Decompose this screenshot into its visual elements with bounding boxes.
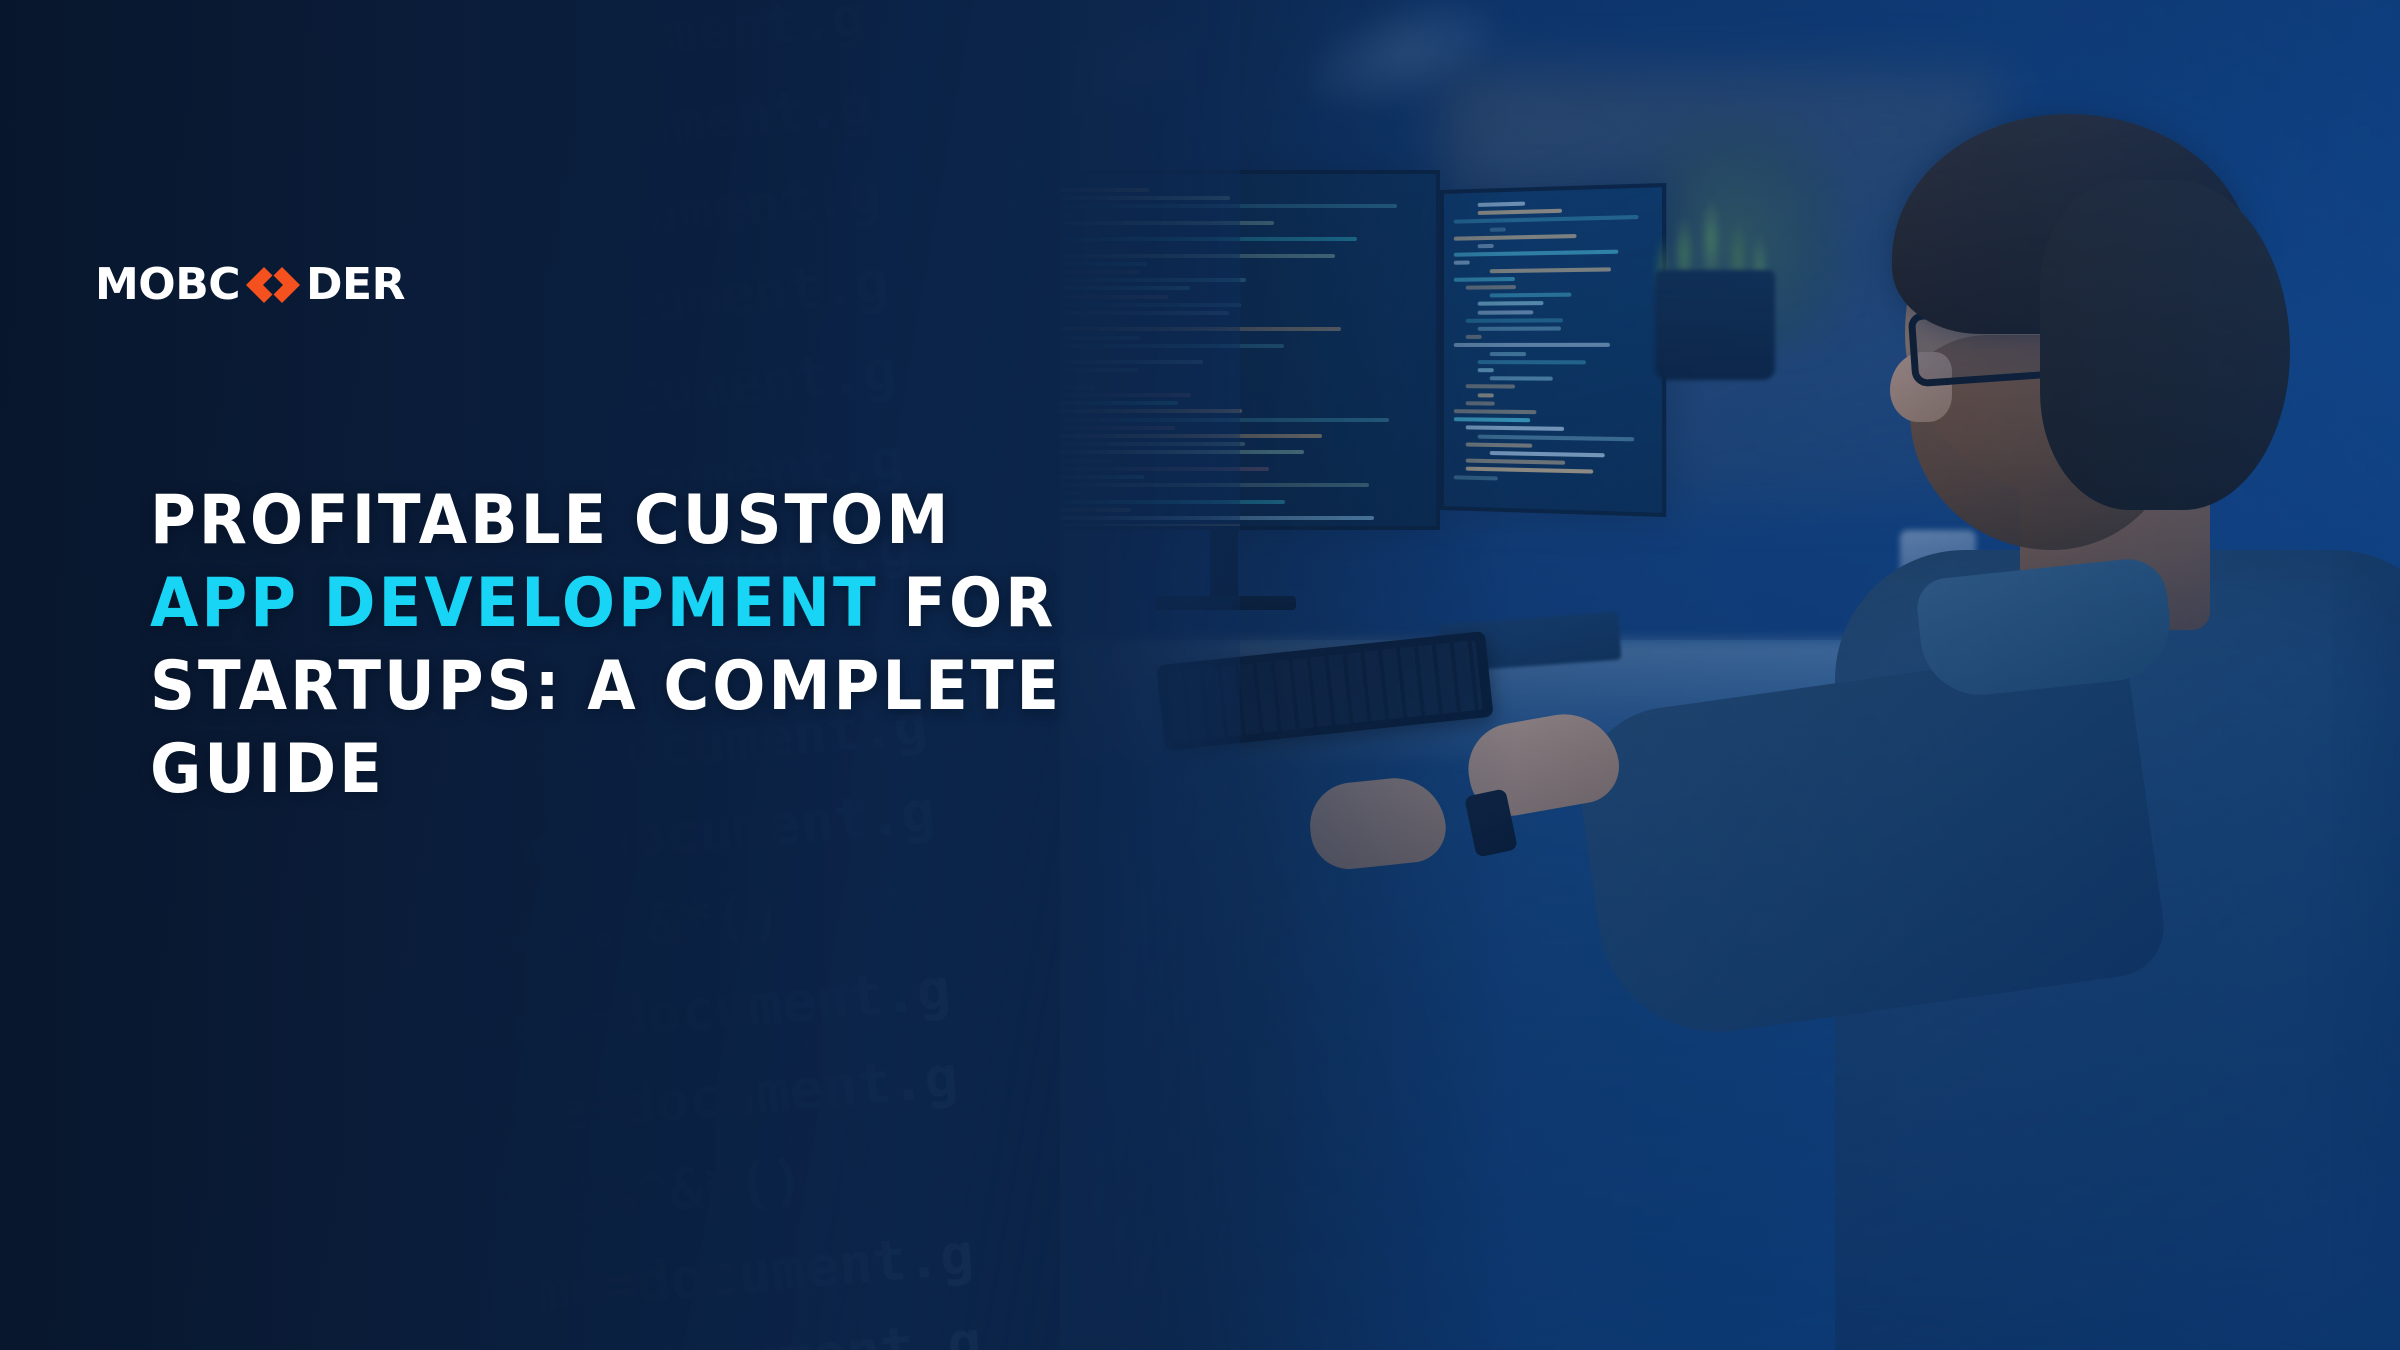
code-identifier: Password — [138, 902, 415, 1014]
headline-line-1: PROFITABLE CUSTOM — [150, 480, 1125, 563]
code-value: document.g — [517, 0, 861, 2]
screen-code-line — [1490, 293, 1572, 298]
screen-code-line — [1060, 344, 1284, 348]
code-line-number: 194 — [0, 661, 122, 764]
code-operator: = — [491, 2, 532, 93]
screen-code-line — [1466, 285, 1517, 290]
code-operator: = — [507, 179, 548, 270]
screen-code-line — [1466, 442, 1533, 447]
screen-code-line — [1060, 393, 1191, 397]
screen-code-line — [1060, 204, 1397, 208]
code-identifier: firstname — [219, 358, 530, 473]
screen-code-line — [1490, 451, 1605, 457]
screen-code-line — [1466, 401, 1495, 405]
code-identifier: firstname — [196, 93, 507, 208]
screen-code-line — [1060, 377, 1063, 381]
screen-code-line — [1060, 385, 1094, 389]
code-keyword: var — [130, 829, 239, 926]
code-operator: = — [483, 0, 524, 5]
screen-code-line — [1060, 475, 1144, 479]
code-line-number: 197 — [0, 1014, 153, 1117]
code-line-number: 192 — [0, 484, 107, 587]
screen-code-line — [1478, 209, 1562, 215]
code-operator: = — [499, 90, 540, 181]
screen-code-line — [1060, 254, 1335, 258]
code-identifier: firstname — [258, 800, 569, 915]
screen-code-line — [1454, 409, 1536, 414]
screen-code-line — [1060, 270, 1140, 274]
screen-code-line — [1466, 335, 1482, 339]
screen-code-line — [1478, 301, 1544, 306]
screen-code-line — [1060, 311, 1229, 315]
screen-code-line — [1454, 343, 1610, 347]
screen-code-line — [1466, 426, 1564, 432]
screen-code-line — [1478, 326, 1561, 330]
code-line-number: 189 — [0, 219, 84, 322]
blog-banner: 185varfirstname=document.g186varfirstnam… — [0, 0, 2400, 1350]
screen-code-line — [1466, 385, 1515, 389]
screen-code-line — [1060, 262, 1147, 266]
code-value: document.g — [556, 326, 900, 444]
code-identifier: firstname — [304, 1330, 615, 1350]
screen-code-line — [1060, 303, 1241, 307]
code-value: document.g — [532, 61, 876, 179]
code-value: document.g — [548, 238, 892, 356]
screen-code-line — [1478, 393, 1494, 397]
screen-code-line — [1060, 213, 1074, 217]
screen-code-line — [1454, 215, 1638, 224]
code-identifier: firstname — [281, 1065, 592, 1180]
screen-code-line — [1466, 459, 1566, 465]
code-line-number: 193 — [0, 573, 115, 676]
hair-back — [2040, 180, 2290, 510]
code-value: document.g — [540, 149, 884, 267]
code-keyword: var — [91, 387, 200, 484]
code-identifier: Username — [161, 1167, 438, 1279]
screen-code-line — [1060, 467, 1269, 471]
screen-code-line — [1060, 221, 1274, 225]
code-keyword: var — [153, 1094, 262, 1191]
code-line-number — [0, 1254, 166, 1269]
headline-line-2-rest: FOR — [903, 564, 1056, 643]
screen-code-line — [1060, 418, 1389, 422]
code-value: (!@#$%^&*() — [407, 870, 785, 991]
code-operator: = — [607, 1327, 648, 1350]
code-keyword: var — [145, 1005, 254, 1102]
screen-code-line — [1060, 401, 1178, 405]
developer-person — [1620, 120, 2400, 1350]
headline-block: PROFITABLE CUSTOM APP DEVELOPMENT FOR ST… — [150, 480, 1210, 812]
code-line-number: 190 — [0, 308, 91, 411]
screen-code-line — [1478, 202, 1525, 207]
logo-text-left: MOBC — [95, 263, 240, 307]
screen-code-line — [1060, 278, 1246, 282]
screen-code-line — [1478, 360, 1586, 364]
code-line-number: 198 — [0, 1103, 161, 1206]
screen-code-line — [1060, 409, 1242, 413]
headline-line-3: STARTUPS: A COMPLETE — [150, 646, 1125, 729]
code-identifier: firstname — [180, 0, 491, 32]
code-brackets-diamond-icon — [242, 264, 304, 306]
code-keyword: var — [60, 34, 169, 131]
code-value: document.g — [633, 1209, 977, 1327]
code-line-number: 195 — [0, 749, 130, 852]
screen-code-line — [1060, 368, 1138, 372]
screen-code-line — [1060, 286, 1190, 290]
screen-code-line — [1490, 352, 1526, 356]
screen-code-line — [1060, 336, 1140, 340]
headline-accent-text: APP DEVELOPMENT — [150, 564, 879, 643]
mobcoder-logo[interactable]: MOBC DER — [95, 262, 405, 308]
screen-code-line — [1060, 434, 1322, 438]
code-keyword: var — [68, 122, 177, 219]
screen-code-line — [1060, 196, 1230, 200]
screen-code-line — [1454, 261, 1470, 265]
code-operator: = — [599, 1239, 640, 1330]
code-operator: = — [514, 267, 555, 358]
screen-code-line — [1060, 360, 1203, 364]
code-keyword: var — [53, 0, 162, 43]
screen-code-line — [1060, 442, 1245, 446]
screen-code-line — [1060, 295, 1168, 299]
screen-code-line — [1478, 434, 1635, 441]
code-value: (!@#$%^&*() — [430, 1135, 808, 1256]
screen-code-line — [1478, 310, 1534, 314]
screen-code-line — [1466, 318, 1564, 323]
code-keyword: var — [169, 1270, 278, 1350]
logo-text-right: DER — [306, 263, 405, 307]
screen-code-line — [1490, 267, 1611, 273]
screen-code-line — [1454, 475, 1498, 480]
code-value: document.g — [617, 1033, 961, 1151]
screen-code-line — [1060, 229, 1065, 233]
screen-code-line — [1060, 188, 1149, 192]
screen-code-line — [1454, 417, 1530, 422]
code-value: document.g — [610, 944, 954, 1062]
code-line-number: 186 — [0, 0, 60, 58]
code-identifier: firstname — [273, 977, 584, 1092]
code-operator: = — [584, 1062, 625, 1153]
code-line-number: 196 — [0, 838, 138, 941]
screen-code-line — [1060, 426, 1175, 430]
office-developer-photo — [1060, 0, 2400, 1350]
monitor-stand-neck — [1210, 530, 1238, 602]
screen-code-line — [1060, 237, 1357, 241]
screen-code-line — [1454, 250, 1618, 257]
headline-line-4: GUIDE — [150, 729, 1125, 812]
screen-code-line — [1060, 459, 1111, 463]
code-line-number: 191 — [0, 396, 99, 499]
screen-code-line — [1454, 234, 1577, 241]
code-operator: = — [522, 355, 563, 446]
code-line-number: 187 — [0, 43, 68, 146]
screen-code-line — [1466, 467, 1593, 474]
code-value: document.g — [641, 1298, 985, 1350]
screen-code-line — [1478, 244, 1494, 248]
code-value: document.g — [525, 0, 869, 90]
monitor-center — [1060, 170, 1440, 530]
headline-line-2: APP DEVELOPMENT FOR — [150, 563, 1125, 646]
screen-code-line — [1490, 376, 1553, 380]
code-operator: = — [576, 974, 617, 1065]
code-line-number — [0, 989, 143, 1004]
code-line-number: 188 — [0, 131, 76, 234]
screen-code-line — [1060, 327, 1341, 331]
code-keyword: var — [84, 299, 193, 396]
code-identifier: firstname — [188, 5, 499, 120]
screen-code-line — [1454, 277, 1515, 282]
code-line-number: 199 — [0, 1279, 176, 1350]
code-identifier: firstname — [296, 1242, 607, 1350]
screen-code-line — [1478, 368, 1494, 372]
screen-code-line — [1060, 450, 1304, 454]
screen-code-line — [1490, 227, 1506, 231]
